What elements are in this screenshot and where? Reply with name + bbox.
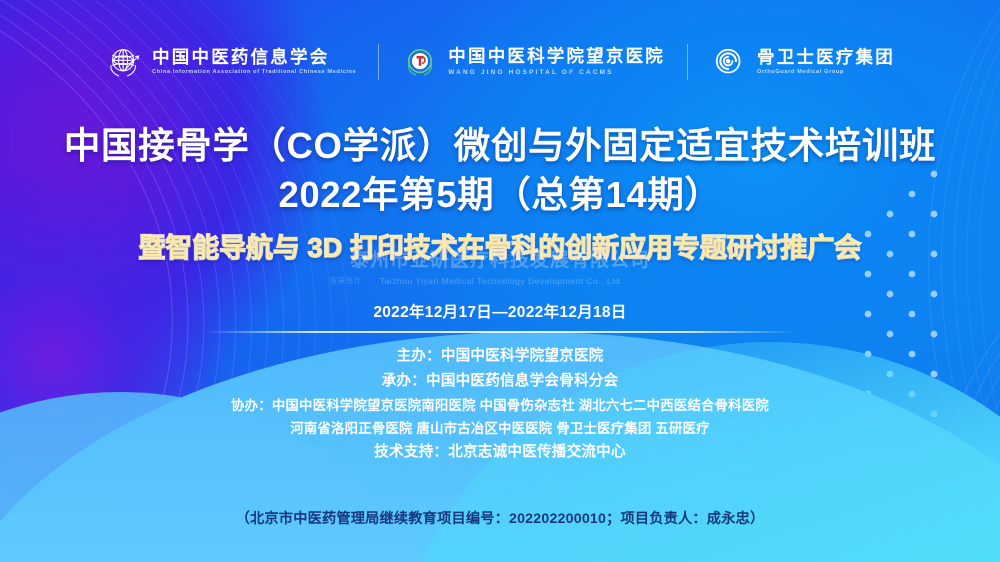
organizer-list: 主办：中国中医科学院望京医院 承办：中国中医药信息学会骨科分会 协办：中国中医科… [0, 344, 1000, 465]
title-line-1: 中国接骨学（CO学派）微创与外固定适宜技术培训班 [0, 122, 1000, 171]
organizer-role: 主办： [396, 348, 440, 364]
organizer-value: 中国中医科学院望京医院南阳医院 中国骨伤杂志社 湖北六七二中西医结合骨科医院 [272, 398, 769, 413]
section-divider-line [205, 331, 795, 333]
title-line-2: 2022年第5期（总第14期） [0, 171, 1000, 220]
organizer-row: 技术支持：北京志诚中医传播交流中心 [0, 440, 1000, 465]
logo-cn-name: 骨卫士医疗集团 [757, 48, 895, 66]
logo-text-block: 骨卫士医疗集团 OrthoGuard Medical Group [757, 48, 895, 77]
wangjing-hospital-emblem-icon [401, 43, 439, 81]
organizer-role: 协办： [231, 398, 272, 413]
logo-en-name: WANG JING HOSPITAL OF CACMS [448, 69, 665, 77]
organizer-row: 主办：中国中医科学院望京医院 [0, 344, 1000, 369]
organizer-row: 协办：中国中医科学院望京医院南阳医院 中国骨伤杂志社 湖北六七二中西医结合骨科医… [0, 394, 1000, 417]
organizer-value: 中国中医药信息学会骨科分会 [426, 373, 618, 389]
event-date: 2022年12月17日—2022年12月18日 [0, 300, 1000, 322]
logo-cn-name: 中国中医科学院望京医院 [448, 47, 665, 65]
logo-en-name: China Information Association of Traditi… [152, 69, 356, 76]
logo-en-name: OrthoGuard Medical Group [757, 69, 895, 76]
organizer-value: 河南省洛阳正骨医院 唐山市古冶区中医医院 骨卫士医疗集团 五研医疗 [290, 421, 709, 436]
globe-wheat-emblem-icon [105, 43, 143, 81]
sponsor-logo-bar: 中国中医药信息学会 China Information Association … [0, 34, 1000, 90]
poster-title-block: 中国接骨学（CO学派）微创与外固定适宜技术培训班 2022年第5期（总第14期）… [0, 122, 1000, 265]
organizer-value: 中国中医科学院望京医院 [441, 348, 604, 364]
organizer-role: 承办： [382, 373, 426, 389]
logo-orthoguard-medical-group: 骨卫士医疗集团 OrthoGuard Medical Group [688, 43, 917, 81]
logo-text-block: 中国中医药信息学会 China Information Association … [152, 48, 356, 77]
logo-china-tcm-info-association: 中国中医药信息学会 China Information Association … [83, 43, 378, 81]
organizer-value: 北京志诚中医传播交流中心 [448, 444, 626, 460]
organizer-row: 承办：中国中医药信息学会骨科分会 [0, 369, 1000, 394]
organizer-row: 河南省洛阳正骨医院 唐山市古冶区中医医院 骨卫士医疗集团 五研医疗 [0, 417, 1000, 440]
orthoguard-spiral-emblem-icon [710, 43, 748, 81]
organizer-role: 技术支持： [374, 444, 448, 460]
project-number-footer: （北京市中医药管理局继续教育项目编号：202202200010；项目负责人：成永… [0, 508, 1000, 528]
conference-poster: 中国中医药信息学会 China Information Association … [0, 0, 1000, 562]
logo-text-block: 中国中医科学院望京医院 WANG JING HOSPITAL OF CACMS [448, 47, 665, 77]
title-subtitle: 暨智能导航与 3D 打印技术在骨科的创新应用专题研讨推广会 [0, 233, 1000, 265]
logo-wangjing-hospital: 中国中医科学院望京医院 WANG JING HOSPITAL OF CACMS [379, 43, 687, 81]
logo-cn-name: 中国中医药信息学会 [152, 48, 356, 66]
